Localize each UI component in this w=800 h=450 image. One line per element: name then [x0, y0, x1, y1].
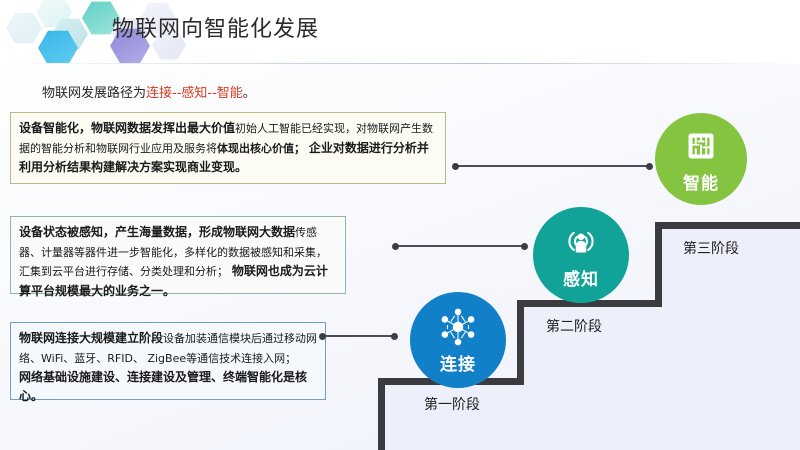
connector-dot-start	[319, 333, 326, 340]
stage-label-sense: 感知	[563, 265, 599, 290]
stair-label-1: 第一阶段	[424, 394, 480, 414]
intro-prefix: 物联网发展路径为	[42, 86, 146, 101]
slide-canvas: 物联网向智能化发展 物联网发展路径为连接--感知--智能。 设备智能化，物联网数…	[0, 0, 800, 450]
stair-step-1	[378, 378, 524, 450]
chip-icon	[680, 125, 722, 167]
stage-circle-sense[interactable]: 感知	[533, 207, 629, 303]
textbox-body-2: 体现出核心价值；	[217, 142, 305, 155]
intro-line: 物联网发展路径为连接--感知--智能。	[42, 82, 256, 101]
sense-stage-textbox: 设备状态被感知，产生海量数据，形成物联网大数据传感器、计量器等器件进一步智能化，…	[10, 216, 346, 294]
connect-stage-textbox: 物联网连接大规模建立阶段设备加装通信模块后通过移动网络、WiFi、蓝牙、RFID…	[10, 322, 326, 400]
page-title: 物联网向智能化发展	[112, 11, 319, 43]
stage-label-smart: 智能	[683, 169, 719, 194]
connector-dot-start	[452, 163, 459, 170]
textbox-lead: 设备状态被感知，产生海量数据，形成物联网大数据	[19, 225, 295, 239]
textbox-lead: 设备智能化，物联网数据发挥出最大价值	[19, 121, 235, 135]
intro-suffix: 。	[243, 86, 256, 101]
network-hub-icon	[437, 306, 479, 348]
connector-dot-end	[646, 163, 653, 170]
stage-circle-connect[interactable]: 连接	[410, 292, 506, 388]
textbox-lead: 物联网连接大规模建立阶段	[19, 331, 163, 345]
header-divider	[0, 63, 800, 64]
stage-label-connect: 连接	[440, 350, 476, 375]
smart-stage-textbox: 设备智能化，物联网数据发挥出最大价值初始人工智能已经实现，对物联网产生数据的智能…	[10, 112, 446, 184]
slide-header: 物联网向智能化发展	[0, 0, 800, 64]
stair-label-3: 第三阶段	[683, 238, 739, 258]
connector-line-smart	[455, 165, 650, 167]
stage-circle-smart[interactable]: 智能	[655, 113, 747, 205]
textbox-emphasis: 网络基础设施建设、连接建设及管理、终端智能化是核心。	[19, 370, 307, 403]
sensor-signal-icon	[560, 221, 602, 263]
intro-highlight: 连接--感知--智能	[146, 86, 243, 101]
stair-label-2: 第二阶段	[546, 316, 602, 336]
